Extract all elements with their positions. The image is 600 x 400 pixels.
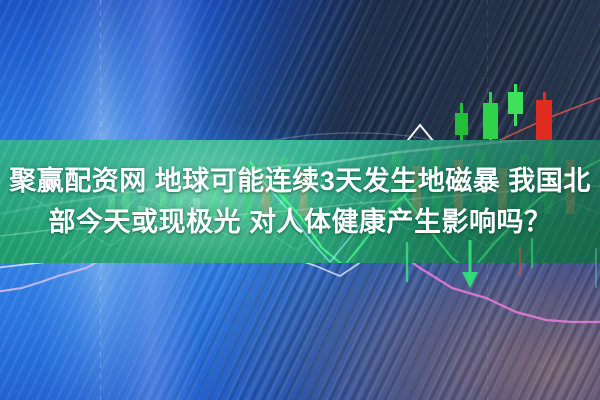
green-arrow-head <box>462 272 478 288</box>
headline-line-2: 部今天或现极光 对人体健康产生影响吗？ <box>48 202 551 243</box>
headline-line-1: 聚赢配资网 地球可能连续3天发生地磁暴 我国北 <box>9 161 591 202</box>
headline-text: 聚赢配资网 地球可能连续3天发生地磁暴 我国北 部今天或现极光 对人体健康产生影… <box>0 140 600 263</box>
screenshot-canvas: 聚赢配资网 地球可能连续3天发生地磁暴 我国北 部今天或现极光 对人体健康产生影… <box>0 0 600 400</box>
